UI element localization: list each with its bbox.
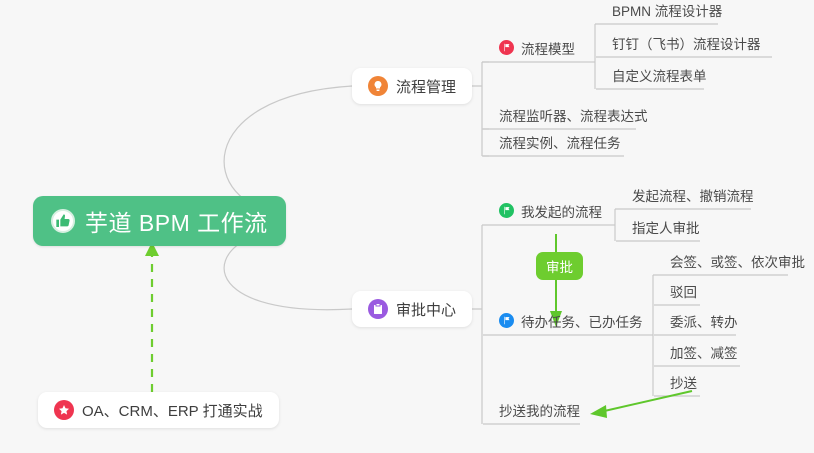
node-instance-task[interactable]: 流程实例、流程任务 [489,130,631,156]
node-label: 流程监听器、流程表达式 [499,105,648,125]
node-custom-process-form[interactable]: 自定义流程表单 [602,63,717,89]
flag-icon [499,203,514,218]
branch-label: 审批中心 [396,299,456,320]
node-label: 抄送我的流程 [499,400,580,420]
node-my-initiated-process[interactable]: 我发起的流程 [489,199,612,225]
approval-badge-label: 审批 [546,256,573,276]
node-label: 待办任务、已办任务 [521,311,643,331]
thumbs-up-icon [51,209,75,233]
mindmap-canvas: 芋道 BPM 工作流 流程管理 流程模型 流程监听器、流程表达式 流程实例、流程… [0,0,814,453]
node-label: BPMN 流程设计器 [612,0,722,20]
node-reject[interactable]: 驳回 [660,279,707,305]
node-label: 自定义流程表单 [612,65,707,85]
branch-process-management[interactable]: 流程管理 [352,68,472,104]
approval-badge: 审批 [536,252,583,280]
bottom-note-label: OA、CRM、ERP 打通实战 [82,400,263,421]
node-assignee-approval[interactable]: 指定人审批 [622,215,710,241]
bottom-note[interactable]: OA、CRM、ERP 打通实战 [38,392,279,428]
node-delegate-transfer[interactable]: 委派、转办 [660,309,748,335]
node-bpmn-designer[interactable]: BPMN 流程设计器 [602,0,732,24]
lightbulb-icon [368,76,388,96]
node-carbon-copy[interactable]: 抄送 [660,370,707,396]
flag-icon [499,313,514,328]
node-label: 指定人审批 [632,217,700,237]
node-label: 委派、转办 [670,311,738,331]
node-label: 抄送 [670,372,697,392]
node-process-model[interactable]: 流程模型 [489,36,585,62]
node-todo-done-task[interactable]: 待办任务、已办任务 [489,309,653,335]
node-label: 流程实例、流程任务 [499,132,621,152]
node-label: 流程模型 [521,38,575,58]
node-listener-expression[interactable]: 流程监听器、流程表达式 [489,103,658,129]
node-dingtalk-feishu-designer[interactable]: 钉钉（飞书）流程设计器 [602,31,771,57]
link-root-to-process-management [224,86,352,213]
node-label: 我发起的流程 [521,201,602,221]
node-label: 驳回 [670,281,697,301]
node-cc-to-me-process[interactable]: 抄送我的流程 [489,398,590,424]
branch-approval-center[interactable]: 审批中心 [352,291,472,327]
node-label: 加签、减签 [670,342,738,362]
clipboard-icon [368,299,388,319]
node-countersign[interactable]: 会签、或签、依次审批 [660,249,814,275]
flag-icon [499,40,514,55]
node-label: 会签、或签、依次审批 [670,251,805,271]
root-node[interactable]: 芋道 BPM 工作流 [33,196,286,246]
star-icon [54,400,74,420]
node-add-remove-sign[interactable]: 加签、减签 [660,340,748,366]
branch-label: 流程管理 [396,76,456,97]
node-label: 发起流程、撤销流程 [632,185,754,205]
node-start-cancel-process[interactable]: 发起流程、撤销流程 [622,183,764,209]
arrow-cc-head [590,405,607,418]
node-label: 钉钉（飞书）流程设计器 [612,33,761,53]
root-label: 芋道 BPM 工作流 [85,204,268,238]
